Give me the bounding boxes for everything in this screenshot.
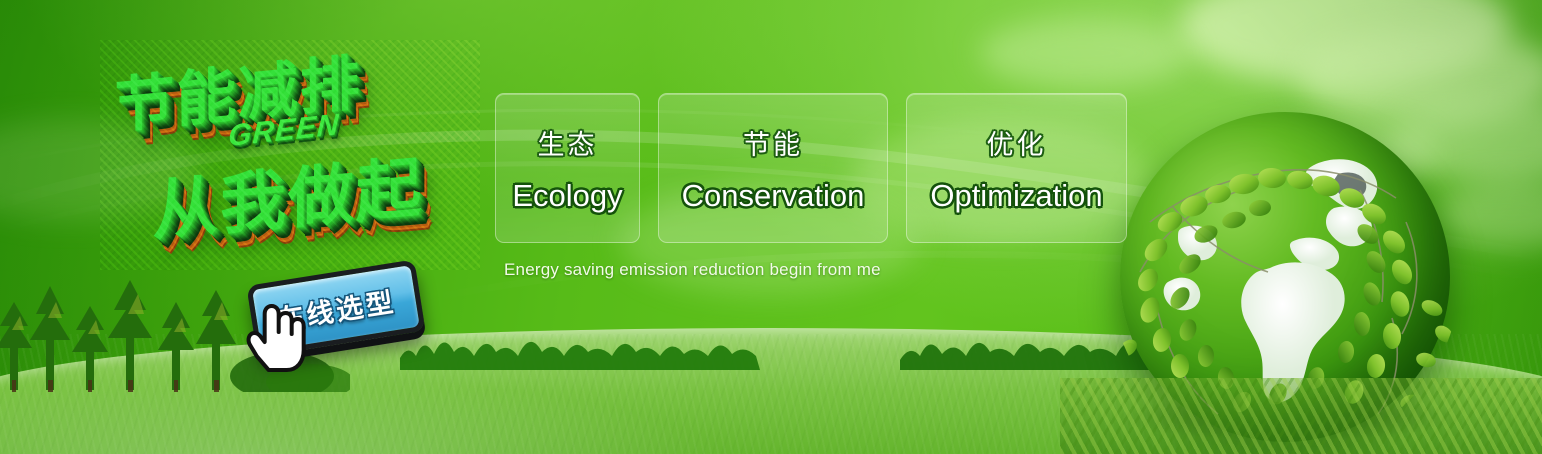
feature-card-cn-label: 生态	[538, 123, 598, 162]
eco-promo-banner: 节能减排 GREEN 从我做起 在线选型 生态 Ecology 节能 Conse…	[0, 0, 1542, 454]
feature-card-en-label: Conservation	[682, 178, 865, 214]
hand-pointer-icon	[243, 300, 309, 374]
feature-card-ecology[interactable]: 生态 Ecology	[495, 93, 640, 243]
feature-card-cn-label: 优化	[987, 123, 1047, 162]
feature-card-optimization[interactable]: 优化 Optimization	[906, 93, 1127, 243]
feature-card-cn-label: 节能	[743, 123, 803, 162]
feature-card-conservation[interactable]: 节能 Conservation	[658, 93, 888, 243]
title-line-bottom: 从我做起	[153, 134, 424, 254]
feature-card-en-label: Ecology	[512, 178, 622, 214]
leaf-litter-icon	[1060, 378, 1542, 454]
feature-card-en-label: Optimization	[930, 178, 1102, 214]
hero-3d-title: 节能减排 GREEN 从我做起	[100, 40, 480, 270]
tagline-text: Energy saving emission reduction begin f…	[504, 260, 881, 280]
feature-cards: 生态 Ecology 节能 Conservation 优化 Optimizati…	[495, 93, 1121, 241]
